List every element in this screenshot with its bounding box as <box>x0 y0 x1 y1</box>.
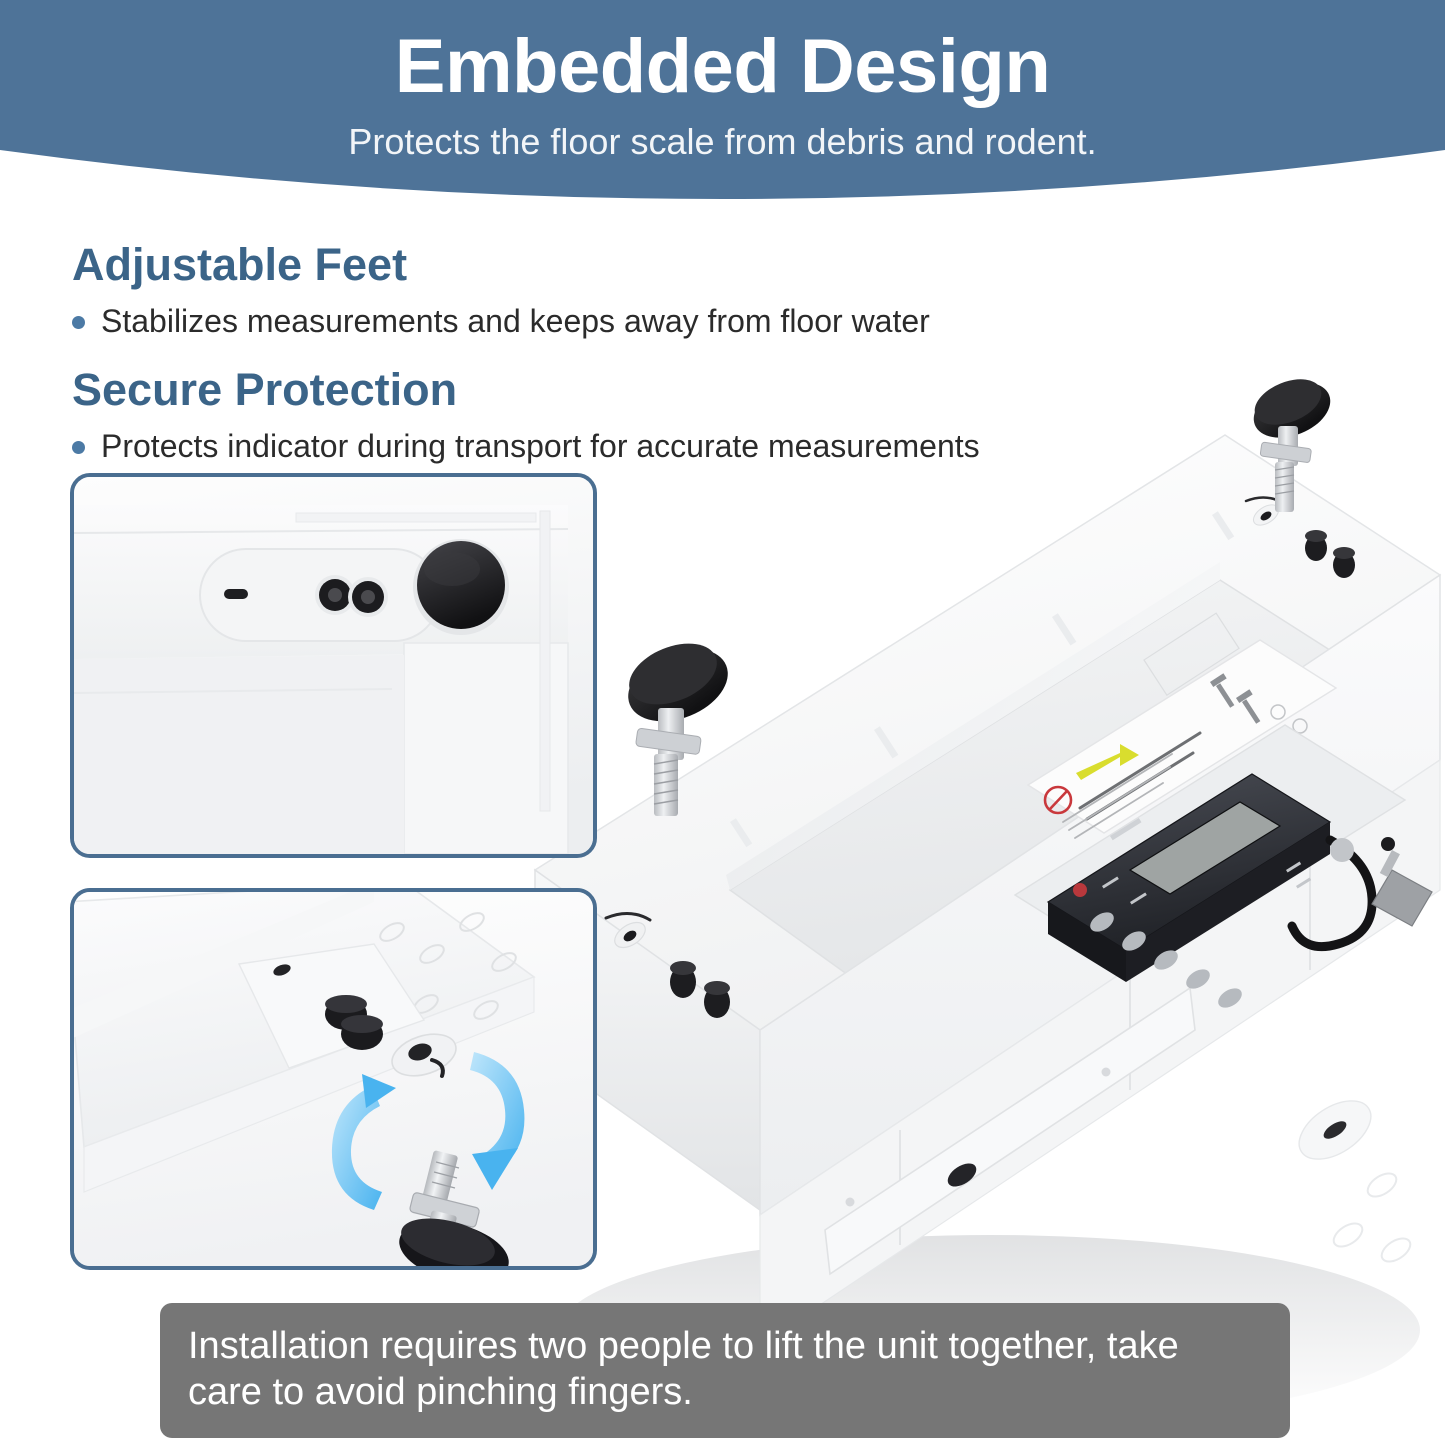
frame-lower-face <box>74 655 404 854</box>
protective-knob <box>413 539 509 635</box>
cover-screw <box>846 1198 855 1207</box>
deck-texture <box>1330 1169 1415 1267</box>
warning-caption-bar: Installation requires two people to lift… <box>160 1303 1290 1438</box>
bullet-dot-icon <box>72 316 85 329</box>
cable-gland <box>1330 838 1354 862</box>
infographic-page: Embedded Design Protects the floor scale… <box>0 0 1445 1445</box>
edge-strip <box>540 511 550 811</box>
feature-block-adjustable-feet: Adjustable Feet Stabilizes measurements … <box>72 238 1122 341</box>
cover-screw <box>1102 1068 1111 1077</box>
header-banner: Embedded Design Protects the floor scale… <box>0 0 1445 240</box>
banner-shape <box>0 0 1445 240</box>
warning-caption-text: Installation requires two people to lift… <box>188 1323 1262 1416</box>
pocket-slot-hole <box>224 589 248 599</box>
feature-heading: Adjustable Feet <box>72 238 1122 291</box>
inset-adjustable-feet <box>70 888 597 1270</box>
hinge-strip <box>296 513 536 522</box>
power-led-icon <box>1073 883 1087 897</box>
inset-secure-protection <box>70 473 597 858</box>
bullet-dot-icon <box>72 441 85 454</box>
